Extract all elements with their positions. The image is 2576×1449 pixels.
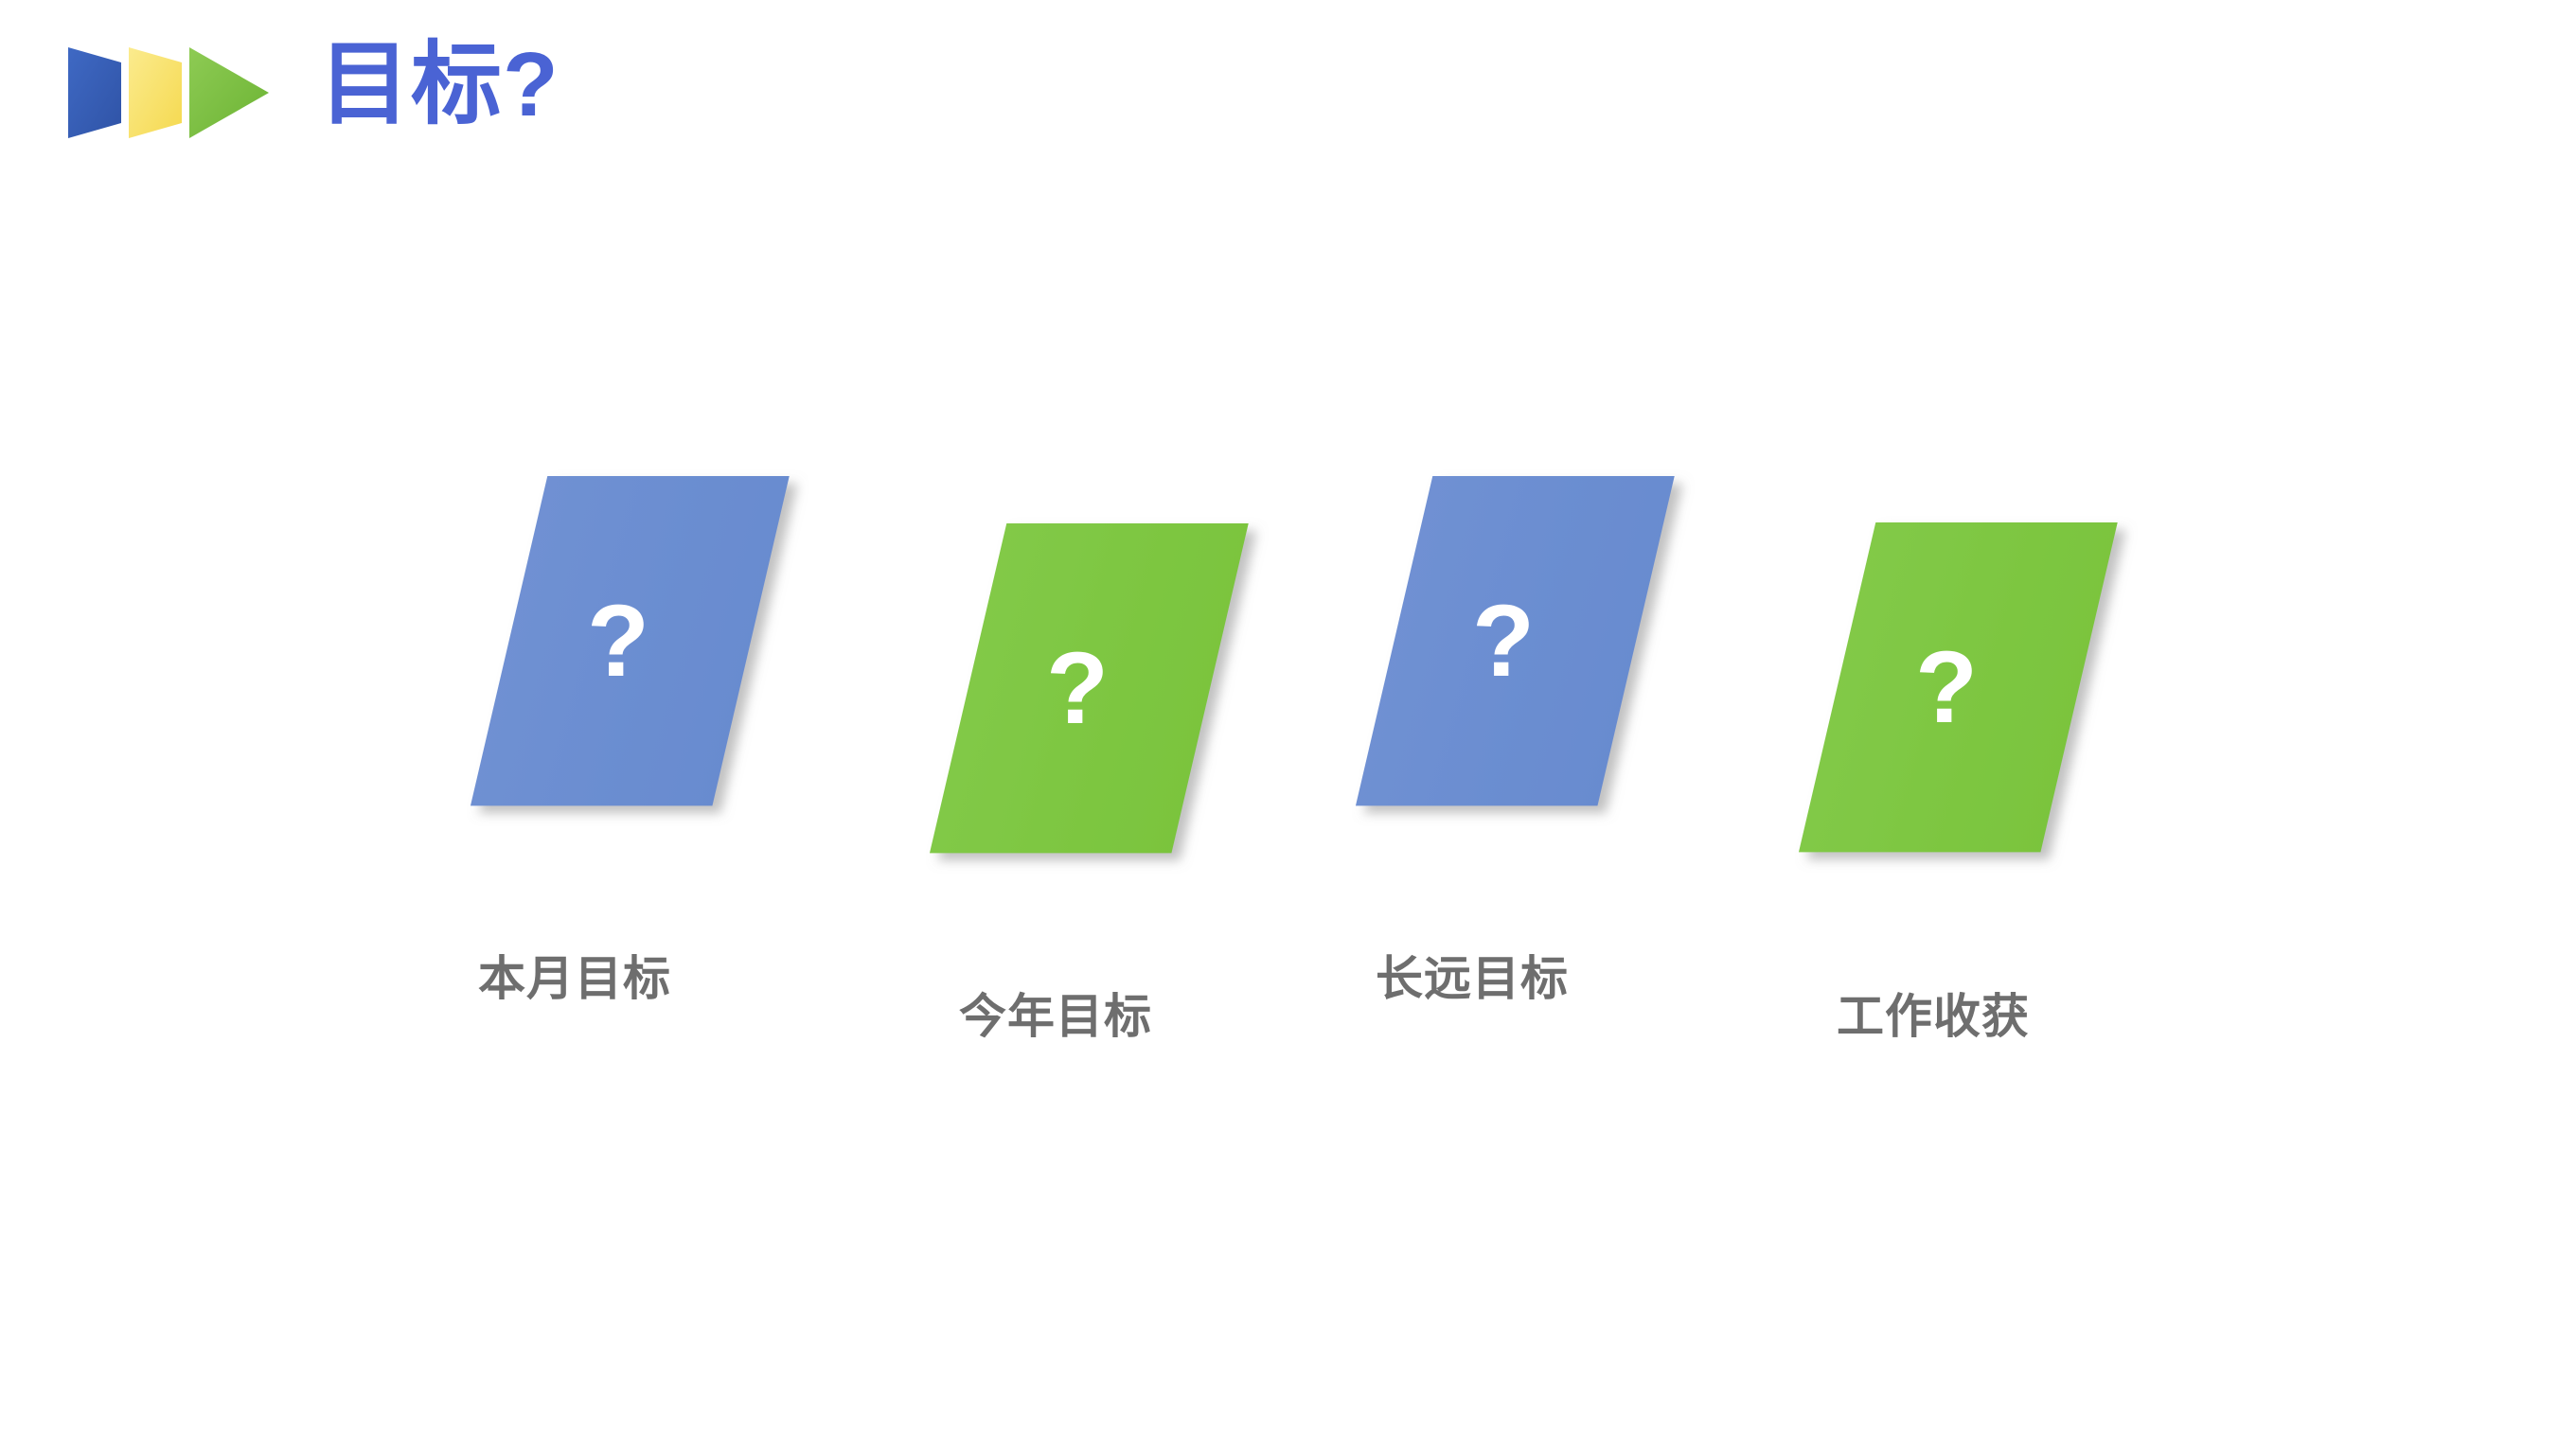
goal-card-2[interactable]: ? xyxy=(923,523,1332,864)
presentation-slide: 目标? ? 本月目标 xyxy=(0,0,2576,1449)
question-mark-2: ? xyxy=(1046,637,1109,739)
question-mark-3: ? xyxy=(1472,590,1535,692)
goal-card-label-4: 工作收获 xyxy=(1837,979,2030,1047)
goal-card-3[interactable]: ? xyxy=(1349,476,1758,817)
goal-card-label-3: 长远目标 xyxy=(1376,941,1569,1009)
parallelogram-blue-3 xyxy=(1349,476,1758,817)
parallelogram-green-2 xyxy=(923,523,1332,864)
goals-diagram: ? 本月目标 ? 今年目标 xyxy=(0,0,2576,1449)
parallelogram-blue-1 xyxy=(464,476,873,817)
goal-card-1[interactable]: ? xyxy=(464,476,873,817)
goal-card-label-2: 今年目标 xyxy=(959,979,1152,1047)
goal-card-4[interactable]: ? xyxy=(1792,522,2201,863)
question-mark-4: ? xyxy=(1915,636,1978,738)
question-mark-1: ? xyxy=(587,590,649,692)
goal-card-label-1: 本月目标 xyxy=(478,941,671,1009)
parallelogram-green-4 xyxy=(1792,522,2201,863)
